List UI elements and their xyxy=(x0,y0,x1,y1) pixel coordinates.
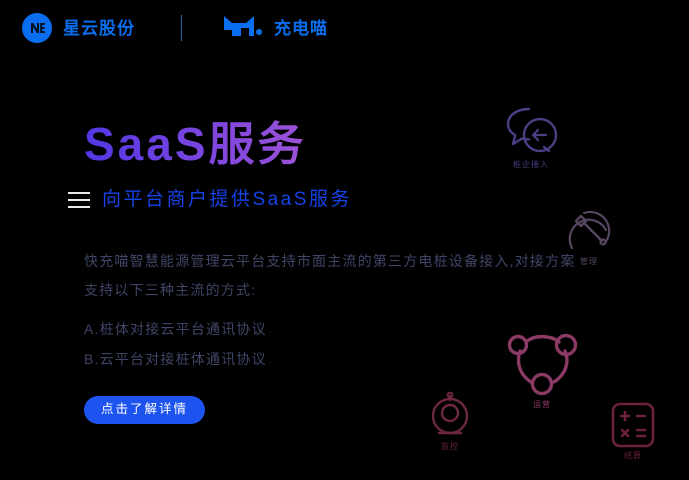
brand-secondary-name: 充电喵 xyxy=(274,20,328,37)
decor-calculator: 结算 xyxy=(608,400,658,460)
hero-section: SaaS服务 向平台商户提供SaaS服务 快充喵智慧能源管理云平台支持市面主流的… xyxy=(84,120,604,424)
brand-primary[interactable]: 星云股份 xyxy=(22,13,135,43)
hero-subtitle-row: 向平台商户提供SaaS服务 xyxy=(68,190,604,209)
ne-monogram-icon xyxy=(22,13,52,43)
cat-face-icon xyxy=(222,14,266,43)
hero-body: 快充喵智慧能源管理云平台支持市面主流的第三方电桩设备接入,对接方案支持以下三种主… xyxy=(84,247,584,305)
brand-primary-name: 星云股份 xyxy=(63,20,135,37)
decor-label: 结算 xyxy=(624,452,642,460)
hero-subtitle: 向平台商户提供SaaS服务 xyxy=(102,190,352,209)
decor-label: 监控 xyxy=(441,443,459,451)
list-item: B.云平台对接桩体通讯协议 xyxy=(84,344,604,374)
hamburger-icon xyxy=(68,192,90,208)
brand-secondary[interactable]: 充电喵 xyxy=(222,14,328,43)
header-divider xyxy=(181,15,182,41)
hero-list: A.桩体对接云平台通讯协议 B.云平台对接桩体通讯协议 xyxy=(84,314,604,374)
page-title: SaaS服务 xyxy=(84,120,604,168)
learn-more-button[interactable]: 点击了解详情 xyxy=(84,396,205,424)
site-header: 星云股份 充电喵 xyxy=(0,0,689,56)
hero-body-paragraph: 快充喵智慧能源管理云平台支持市面主流的第三方电桩设备接入,对接方案支持以下三种主… xyxy=(84,247,584,305)
calculator-icon xyxy=(608,400,658,450)
list-item: A.桩体对接云平台通讯协议 xyxy=(84,314,604,344)
